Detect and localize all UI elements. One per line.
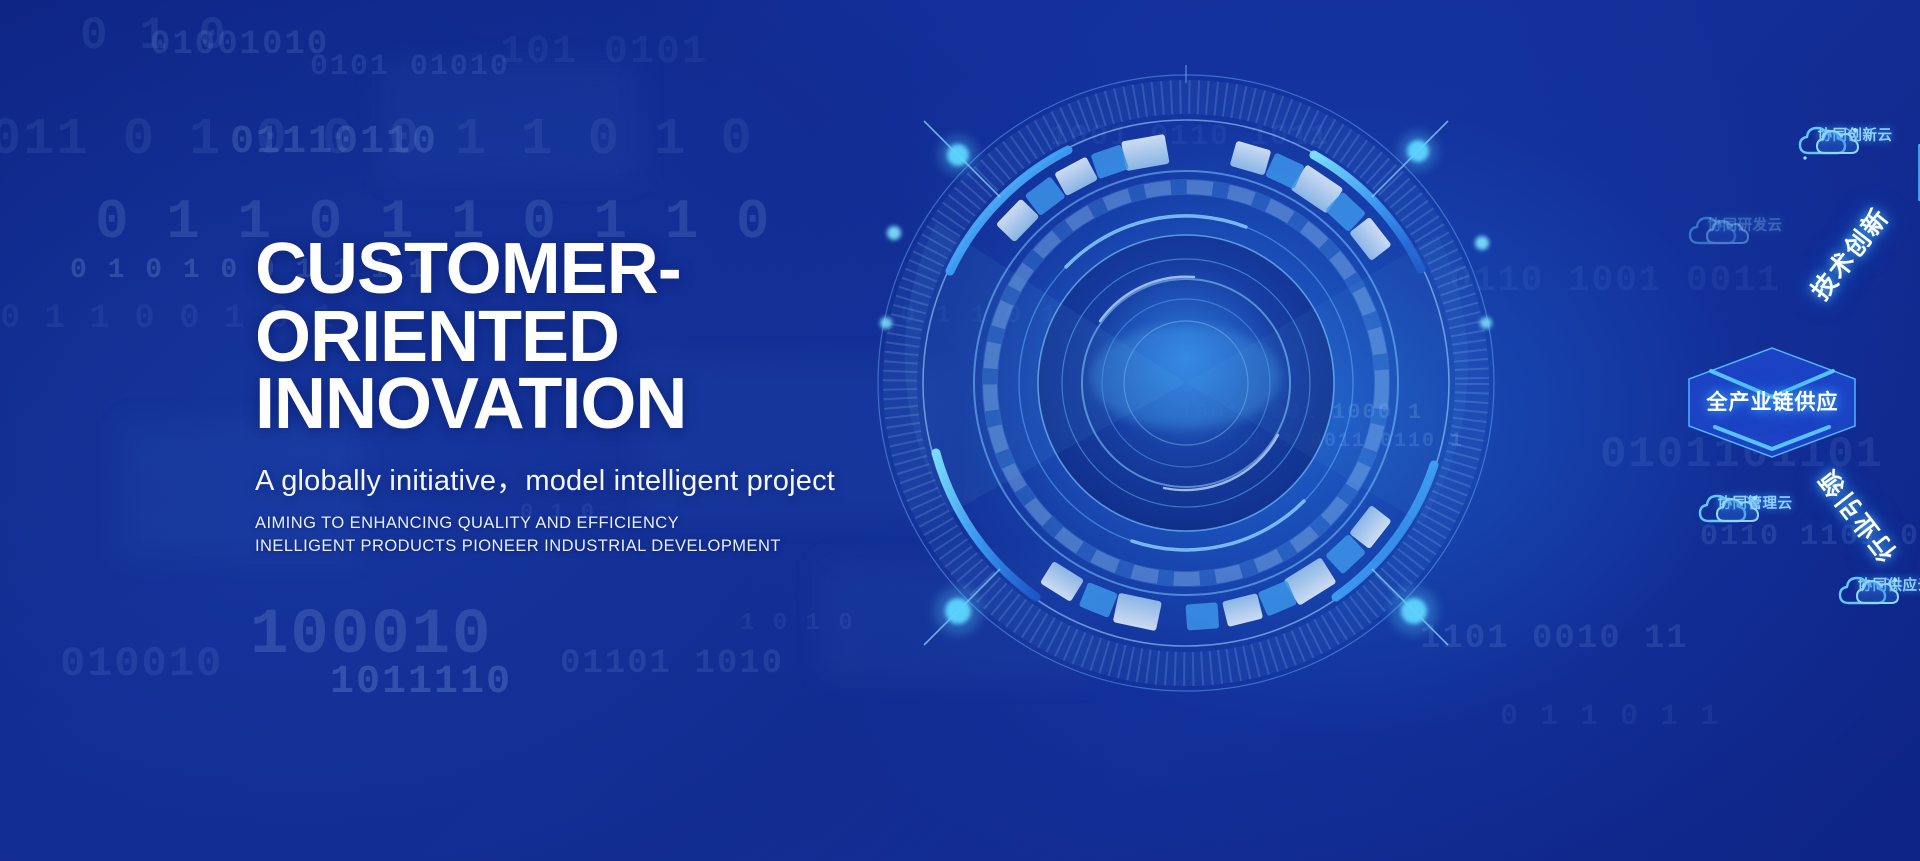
cloud-node-rd[interactable]: 协同研发云 — [1685, 210, 1805, 235]
headline-block: CUSTOMER-ORIENTED INNOVATION A globally … — [255, 236, 975, 559]
binary-text: 01101 1010 — [560, 645, 784, 683]
subtitle: A globally initiative，model intelligent … — [255, 457, 975, 499]
hexagon-badge-supply-chain[interactable]: 全产业链供应 — [1685, 345, 1860, 460]
cloud-icon — [1835, 570, 1905, 612]
cloud-node-label: 协同研发云 — [1685, 214, 1805, 235]
hero-banner: 0 1 0 01001010 0101 01010 101 0101 011 0… — [0, 0, 1920, 861]
binary-text: 01110110 — [230, 120, 438, 165]
binary-text: 100010 — [250, 600, 492, 672]
tagline-1: AIMING TO ENHANCING QUALITY AND EFFICIEN… — [255, 512, 975, 535]
tagline-group: AIMING TO ENHANCING QUALITY AND EFFICIEN… — [255, 512, 975, 559]
binary-text: 0 1 0 — [80, 10, 228, 62]
binary-text: 011 0 1 0 0 0 1 1 0 1 0 — [0, 110, 754, 169]
page-title: CUSTOMER-ORIENTED INNOVATION — [255, 236, 975, 439]
glow-block — [380, 60, 640, 180]
title-line-2: INNOVATION — [255, 371, 975, 439]
cloud-icon — [1695, 488, 1765, 530]
tagline-2: INELLIGENT PRODUCTS PIONEER INDUSTRIAL D… — [255, 535, 975, 558]
hexagon-label: 全产业链供应 — [1707, 391, 1839, 415]
binary-text: 0101 01010 — [310, 50, 510, 84]
cloud-node-supply[interactable]: 协同供应云 — [1835, 570, 1920, 595]
hexagon-shape — [1913, 105, 1920, 240]
binary-text: 101 0101 — [500, 30, 708, 75]
binary-text: 1 0 1 0 — [740, 610, 855, 637]
title-line-1: CUSTOMER-ORIENTED — [255, 229, 681, 377]
binary-text: 01001010 — [150, 26, 329, 64]
cloud-icon — [1795, 120, 1865, 162]
binary-text: 1011110 — [330, 660, 512, 705]
binary-text: 010010 — [60, 640, 223, 688]
cloud-node-innovation[interactable]: 协同创新云 — [1795, 120, 1915, 145]
hud-graphic: 技术创新 综合实力 行业引领 社会责任 客户需求 核心产品 全产业链供应 — [840, 20, 1920, 850]
hexagon-badge-core-product[interactable]: 核心产品 — [1913, 105, 1920, 240]
cloud-node-management[interactable]: 协同管理云 — [1695, 488, 1815, 513]
